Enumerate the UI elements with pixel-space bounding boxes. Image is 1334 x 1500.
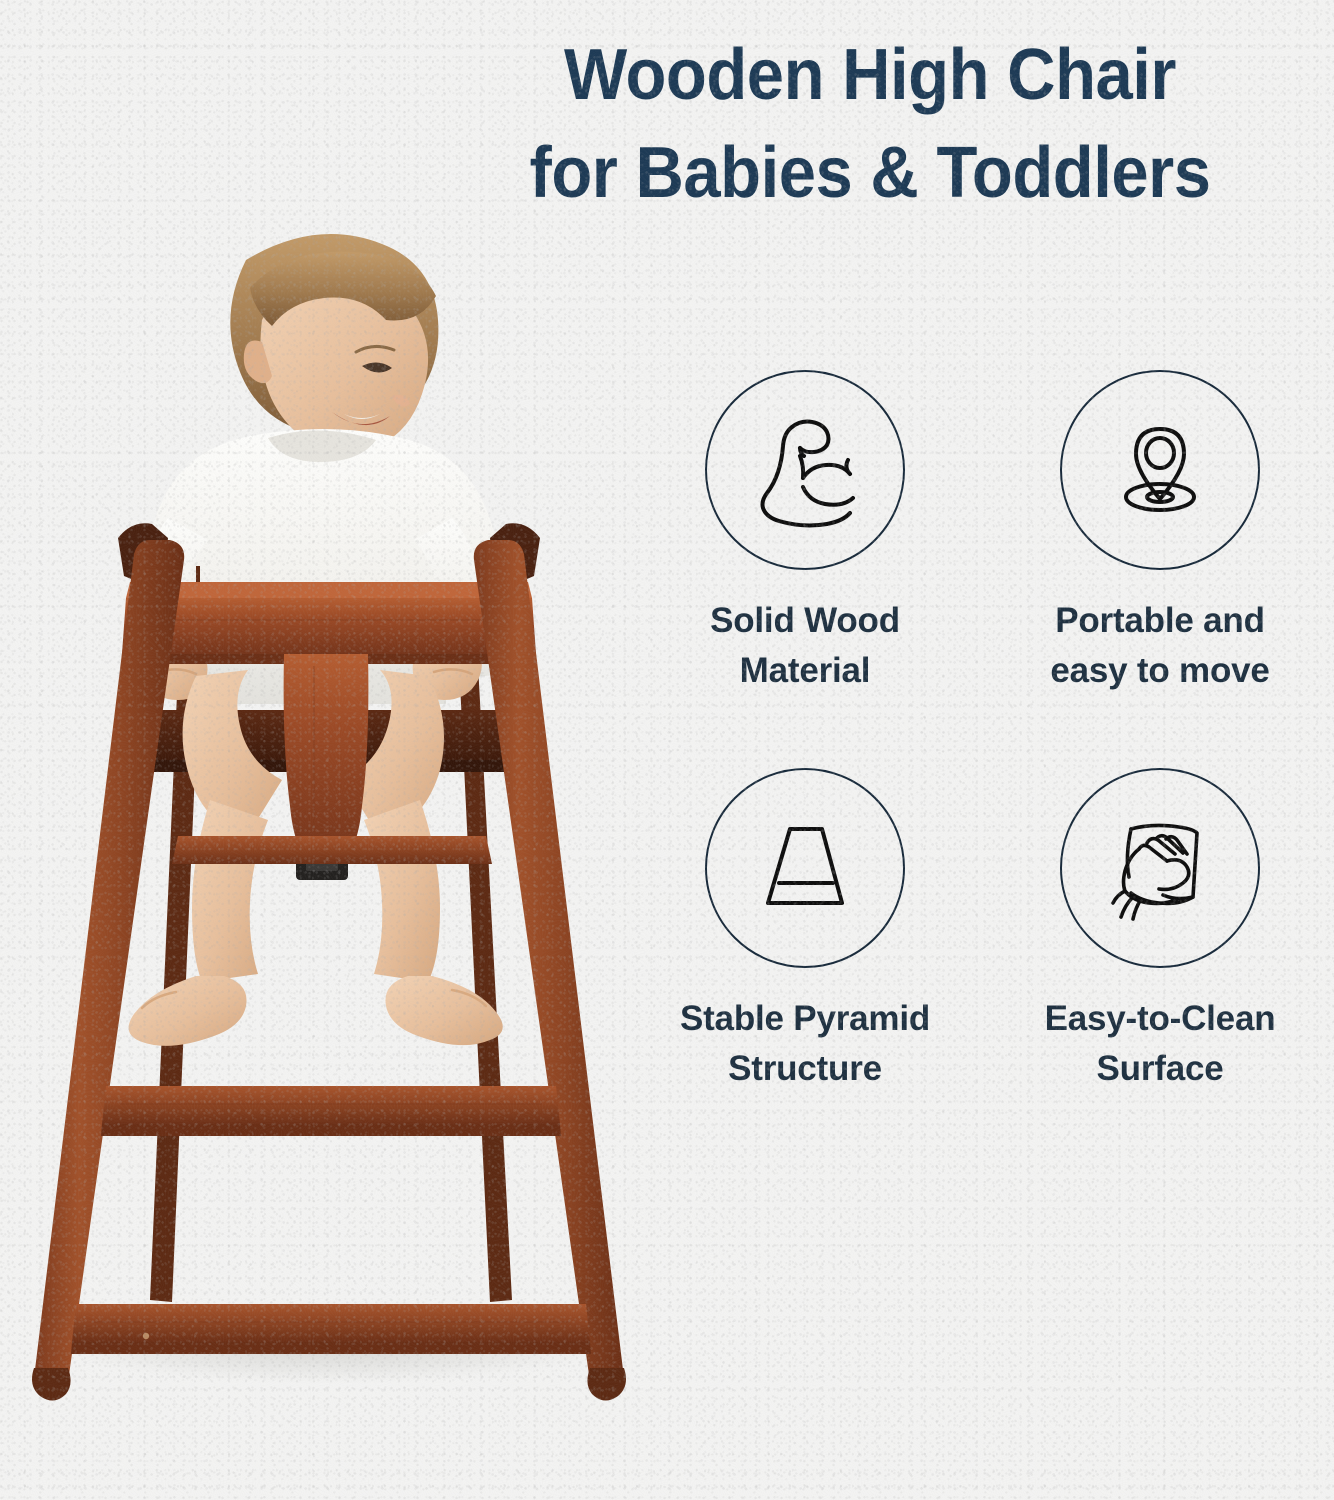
infographic-canvas: Wooden High Chair for Babies & Toddlers bbox=[0, 0, 1334, 1500]
feature-easy-to-clean: Easy-to-Clean Surface bbox=[990, 768, 1330, 1094]
feature-icon-circle bbox=[1060, 370, 1260, 570]
feature-icon-circle bbox=[1060, 768, 1260, 968]
feature-stable-pyramid: Stable Pyramid Structure bbox=[635, 768, 975, 1094]
chair-tray-top bbox=[126, 582, 532, 598]
baby-leg-right bbox=[364, 800, 440, 982]
location-pin-icon bbox=[1095, 405, 1225, 535]
product-photo bbox=[0, 120, 660, 1460]
baby-head bbox=[230, 234, 438, 451]
feature-solid-wood: Solid Wood Material bbox=[635, 370, 975, 696]
feature-label-line-2: Surface bbox=[990, 1044, 1330, 1094]
chair-seat-front-rail bbox=[172, 836, 492, 864]
chair-screw-plug bbox=[143, 1333, 149, 1339]
headline-line-1: Wooden High Chair bbox=[461, 26, 1279, 124]
headline: Wooden High Chair for Babies & Toddlers bbox=[430, 26, 1310, 222]
chair-foot-left bbox=[32, 1368, 71, 1401]
feature-label: Easy-to-Clean Surface bbox=[990, 994, 1330, 1094]
flexed-bicep-icon bbox=[740, 405, 870, 535]
feature-label: Portable and easy to move bbox=[990, 596, 1330, 696]
feature-label-line-2: easy to move bbox=[990, 646, 1330, 696]
chair-crotch-post-body bbox=[284, 654, 369, 858]
chair-tray bbox=[121, 582, 537, 664]
chair-foot-right bbox=[587, 1368, 626, 1401]
pyramid-trapezoid-icon bbox=[740, 803, 870, 933]
feature-icon-circle bbox=[705, 768, 905, 968]
chair-crossbar-lower bbox=[71, 1304, 591, 1354]
feature-portable: Portable and easy to move bbox=[990, 370, 1330, 696]
chair-tray-body bbox=[122, 598, 536, 654]
feature-label: Stable Pyramid Structure bbox=[635, 994, 975, 1094]
feature-grid: Solid Wood Material Portable and easy to bbox=[640, 370, 1334, 1160]
feature-label-line-1: Portable and bbox=[990, 596, 1330, 646]
hand-wiping-cloth-icon bbox=[1095, 803, 1225, 933]
feature-label-line-2: Structure bbox=[635, 1044, 975, 1094]
feature-label-line-1: Solid Wood bbox=[635, 596, 975, 646]
feature-label-line-2: Material bbox=[635, 646, 975, 696]
feature-label: Solid Wood Material bbox=[635, 596, 975, 696]
feature-label-line-1: Stable Pyramid bbox=[635, 994, 975, 1044]
baby-foot-left bbox=[129, 976, 247, 1046]
feature-icon-circle bbox=[705, 370, 905, 570]
chair-crossbar-upper bbox=[101, 1086, 561, 1136]
headline-line-2: for Babies & Toddlers bbox=[461, 124, 1279, 222]
chair-crotch-post bbox=[284, 654, 369, 860]
feature-label-line-1: Easy-to-Clean bbox=[990, 994, 1330, 1044]
baby-leg-left bbox=[192, 800, 268, 982]
